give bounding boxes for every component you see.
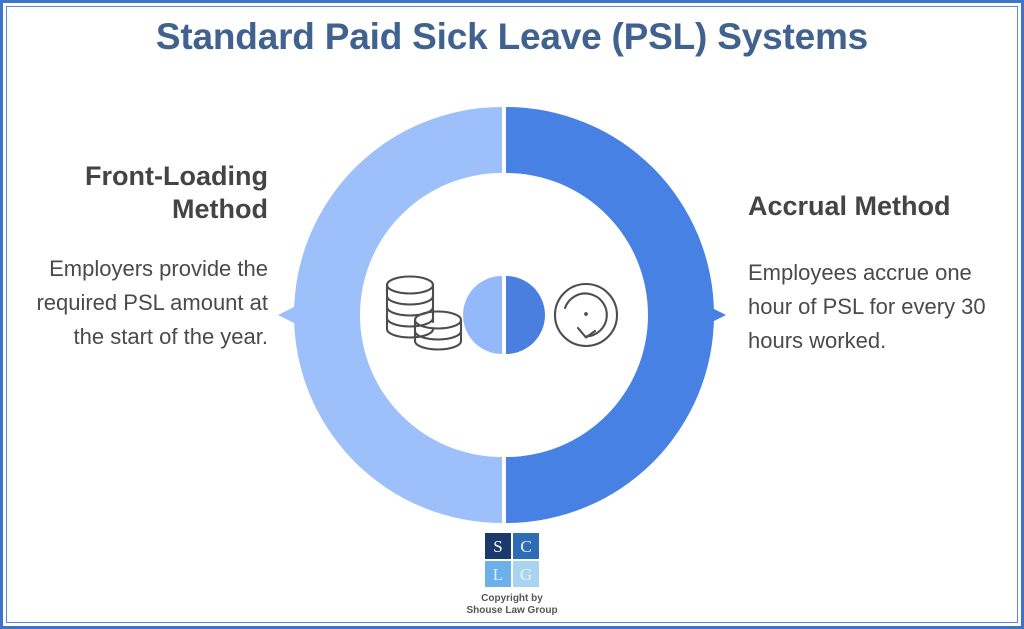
- logo-letter-c: C: [513, 533, 539, 559]
- infographic-canvas: Standard Paid Sick Leave (PSL) Systems F…: [0, 0, 1024, 629]
- right-method-heading: Accrual Method: [748, 190, 1008, 223]
- refresh-cycle-icon: [555, 284, 617, 346]
- logo-letter-g: G: [513, 561, 539, 587]
- left-method-heading: Front-Loading Method: [8, 160, 268, 226]
- shouse-law-group-logo: S C L G: [485, 533, 539, 587]
- right-method-description: Employees accrue one hour of PSL for eve…: [748, 256, 1008, 358]
- donut-diagram: [272, 98, 732, 532]
- copyright-text: Copyright by Shouse Law Group: [0, 593, 1024, 617]
- left-method-description: Employers provide the required PSL amoun…: [8, 252, 268, 354]
- coins-stack-icon: [387, 277, 461, 350]
- left-panel: Front-Loading Method Employers provide t…: [8, 160, 268, 354]
- copyright-line-1: Copyright by: [0, 593, 1024, 605]
- footer-branding: S C L G Copyright by Shouse Law Group: [0, 533, 1024, 617]
- logo-letter-s: S: [485, 533, 511, 559]
- logo-letter-l: L: [485, 561, 511, 587]
- split-circle-icon: [463, 276, 545, 354]
- page-title: Standard Paid Sick Leave (PSL) Systems: [0, 14, 1024, 60]
- copyright-line-2: Shouse Law Group: [0, 605, 1024, 617]
- right-panel: Accrual Method Employees accrue one hour…: [748, 160, 1008, 358]
